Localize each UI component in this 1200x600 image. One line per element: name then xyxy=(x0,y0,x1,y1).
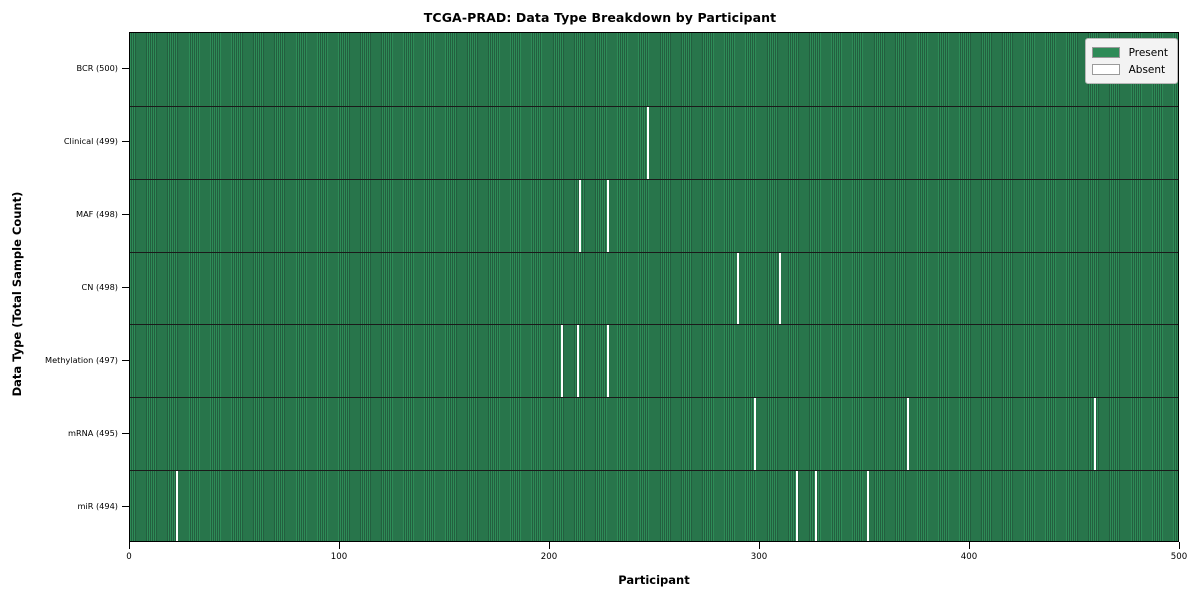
y-tick-label-clinical: Clinical (499) xyxy=(64,136,118,146)
y-tick-label-mrna: mRNA (495) xyxy=(68,428,118,438)
legend-swatch-absent xyxy=(1092,64,1120,75)
y-tick-mark xyxy=(122,360,129,361)
y-tick-label-maf: MAF (498) xyxy=(76,209,118,219)
y-tick-label-mir: miR (494) xyxy=(77,501,118,511)
x-tick-mark xyxy=(969,542,970,549)
heatmap-absent-cell[interactable] xyxy=(796,470,798,542)
heatmap-row-separator xyxy=(130,252,1178,253)
heatmap-row-separator xyxy=(130,179,1178,180)
heatmap-row-present-band xyxy=(130,252,1178,325)
heatmap-absent-cell[interactable] xyxy=(867,470,869,542)
x-tick-label: 100 xyxy=(331,552,347,562)
x-tick-mark xyxy=(549,542,550,549)
heatmap-row[interactable] xyxy=(130,470,1178,542)
x-tick-mark xyxy=(339,542,340,549)
heatmap-row[interactable] xyxy=(130,397,1178,470)
x-tick-mark xyxy=(1179,542,1180,549)
y-tick-label-methylation: Methylation (497) xyxy=(45,355,118,365)
heatmap-absent-cell[interactable] xyxy=(815,470,817,542)
heatmap-absent-cell[interactable] xyxy=(561,324,563,397)
heatmap-absent-cell[interactable] xyxy=(577,324,579,397)
chart-legend: PresentAbsent xyxy=(1085,38,1178,84)
heatmap-absent-cell[interactable] xyxy=(1094,397,1096,470)
y-axis-label: Data Type (Total Sample Count) xyxy=(10,39,24,549)
heatmap-plot-area[interactable] xyxy=(129,32,1179,542)
heatmap-absent-cell[interactable] xyxy=(607,324,609,397)
heatmap-row-present-band xyxy=(130,33,1178,106)
heatmap-row-present-band xyxy=(130,470,1178,542)
heatmap-row-separator xyxy=(130,324,1178,325)
x-tick-label: 0 xyxy=(126,552,131,562)
legend-label: Present xyxy=(1129,47,1168,59)
legend-item[interactable]: Present xyxy=(1092,44,1168,61)
heatmap-row[interactable] xyxy=(130,106,1178,179)
heatmap-row-separator xyxy=(130,470,1178,471)
y-tick-mark xyxy=(122,433,129,434)
x-tick-label: 500 xyxy=(1171,552,1187,562)
legend-item[interactable]: Absent xyxy=(1092,61,1168,78)
chart-figure: TCGA-PRAD: Data Type Breakdown by Partic… xyxy=(0,0,1200,600)
y-tick-mark xyxy=(122,141,129,142)
x-tick-label: 300 xyxy=(751,552,767,562)
heatmap-row[interactable] xyxy=(130,33,1178,106)
heatmap-absent-cell[interactable] xyxy=(579,179,581,252)
x-tick-mark xyxy=(129,542,130,549)
y-tick-mark xyxy=(122,68,129,69)
heatmap-row-present-band xyxy=(130,397,1178,470)
x-tick-label: 400 xyxy=(961,552,977,562)
heatmap-absent-cell[interactable] xyxy=(907,397,909,470)
heatmap-row-present-band xyxy=(130,324,1178,397)
heatmap-row-present-band xyxy=(130,179,1178,252)
y-tick-mark xyxy=(122,287,129,288)
heatmap-row[interactable] xyxy=(130,252,1178,325)
heatmap-row-present-band xyxy=(130,106,1178,179)
y-tick-mark xyxy=(122,506,129,507)
x-tick-mark xyxy=(759,542,760,549)
x-tick-label: 200 xyxy=(541,552,557,562)
heatmap-absent-cell[interactable] xyxy=(647,106,649,179)
legend-swatch-present xyxy=(1092,47,1120,58)
y-tick-label-bcr: BCR (500) xyxy=(77,63,119,73)
heatmap-absent-cell[interactable] xyxy=(176,470,178,542)
heatmap-absent-cell[interactable] xyxy=(754,397,756,470)
chart-title: TCGA-PRAD: Data Type Breakdown by Partic… xyxy=(0,10,1200,25)
heatmap-row[interactable] xyxy=(130,179,1178,252)
heatmap-absent-cell[interactable] xyxy=(607,179,609,252)
y-tick-mark xyxy=(122,214,129,215)
x-axis-label: Participant xyxy=(129,573,1179,587)
heatmap-absent-cell[interactable] xyxy=(779,252,781,325)
heatmap-row-separator xyxy=(130,397,1178,398)
heatmap-row[interactable] xyxy=(130,324,1178,397)
legend-label: Absent xyxy=(1129,64,1166,76)
y-tick-label-cn: CN (498) xyxy=(82,282,118,292)
heatmap-absent-cell[interactable] xyxy=(737,252,739,325)
heatmap-row-separator xyxy=(130,106,1178,107)
